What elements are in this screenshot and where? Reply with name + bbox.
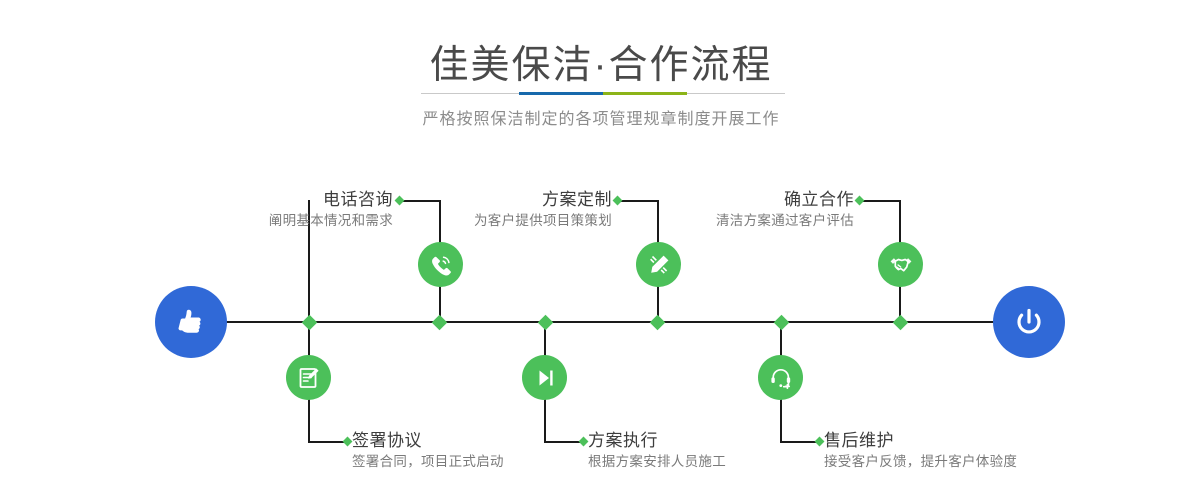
headset-add-icon — [768, 365, 794, 391]
step-label-2: 签署协议 签署合同，项目正式启动 — [352, 430, 504, 472]
connector-horizontal — [861, 200, 901, 202]
step-title: 签署协议 — [352, 430, 504, 452]
label-marker — [815, 437, 825, 447]
step-title: 方案定制 — [405, 189, 612, 211]
divider-blue-segment — [519, 92, 603, 95]
page-subtitle: 严格按照保洁制定的各项管理规章制度开展工作 — [0, 105, 1202, 129]
step-subtitle: 根据方案安排人员施工 — [588, 452, 726, 472]
step-node-6[interactable] — [758, 355, 803, 400]
step-node-4[interactable] — [522, 355, 567, 400]
step-title: 电话咨询 — [150, 189, 393, 211]
step-label-4: 方案执行 根据方案安排人员施工 — [588, 430, 726, 472]
document-sign-icon — [296, 365, 322, 391]
step-title: 售后维护 — [824, 430, 1017, 452]
step-label-6: 售后维护 接受客户反馈，提升客户体验度 — [824, 430, 1017, 472]
step-title: 方案执行 — [588, 430, 726, 452]
timeline-marker — [538, 315, 554, 331]
label-marker — [579, 437, 589, 447]
play-skip-icon — [532, 365, 558, 391]
title-divider — [421, 92, 785, 95]
step-subtitle: 签署合同，项目正式启动 — [352, 452, 504, 472]
step-label-3: 方案定制 为客户提供项目策策划 — [405, 189, 612, 231]
step-subtitle: 接受客户反馈，提升客户体验度 — [824, 452, 1017, 472]
timeline-marker — [650, 315, 666, 331]
step-subtitle: 阐明基本情况和需求 — [150, 211, 393, 231]
timeline-marker — [302, 315, 318, 331]
step-node-5[interactable] — [878, 242, 923, 287]
pointing-hand-icon — [171, 302, 211, 342]
step-subtitle: 清洁方案通过客户评估 — [650, 211, 854, 231]
connector-vertical — [899, 200, 901, 248]
timeline-marker — [774, 315, 790, 331]
timeline-marker — [893, 315, 909, 331]
label-marker — [855, 196, 865, 206]
step-node-2[interactable] — [286, 355, 331, 400]
timeline-start-node — [155, 286, 227, 358]
pencil-edit-icon — [646, 252, 672, 278]
step-subtitle: 为客户提供项目策策划 — [405, 211, 612, 231]
label-marker — [343, 437, 353, 447]
step-node-1[interactable] — [418, 242, 463, 287]
step-label-5: 确立合作 清洁方案通过客户评估 — [650, 189, 854, 231]
label-marker — [613, 196, 623, 206]
step-node-3[interactable] — [636, 242, 681, 287]
page-title: 佳美保洁·合作流程 — [0, 34, 1202, 90]
step-label-1: 电话咨询 阐明基本情况和需求 — [150, 189, 393, 231]
step-title: 确立合作 — [650, 189, 854, 211]
timeline-end-node — [993, 286, 1065, 358]
timeline-marker — [432, 315, 448, 331]
phone-call-icon — [428, 252, 454, 278]
label-marker — [395, 196, 405, 206]
divider-green-segment — [603, 92, 687, 95]
handshake-icon — [888, 252, 914, 278]
flow-diagram-canvas: 佳美保洁·合作流程 严格按照保洁制定的各项管理规章制度开展工作 — [0, 0, 1202, 502]
power-button-icon — [1009, 302, 1049, 342]
